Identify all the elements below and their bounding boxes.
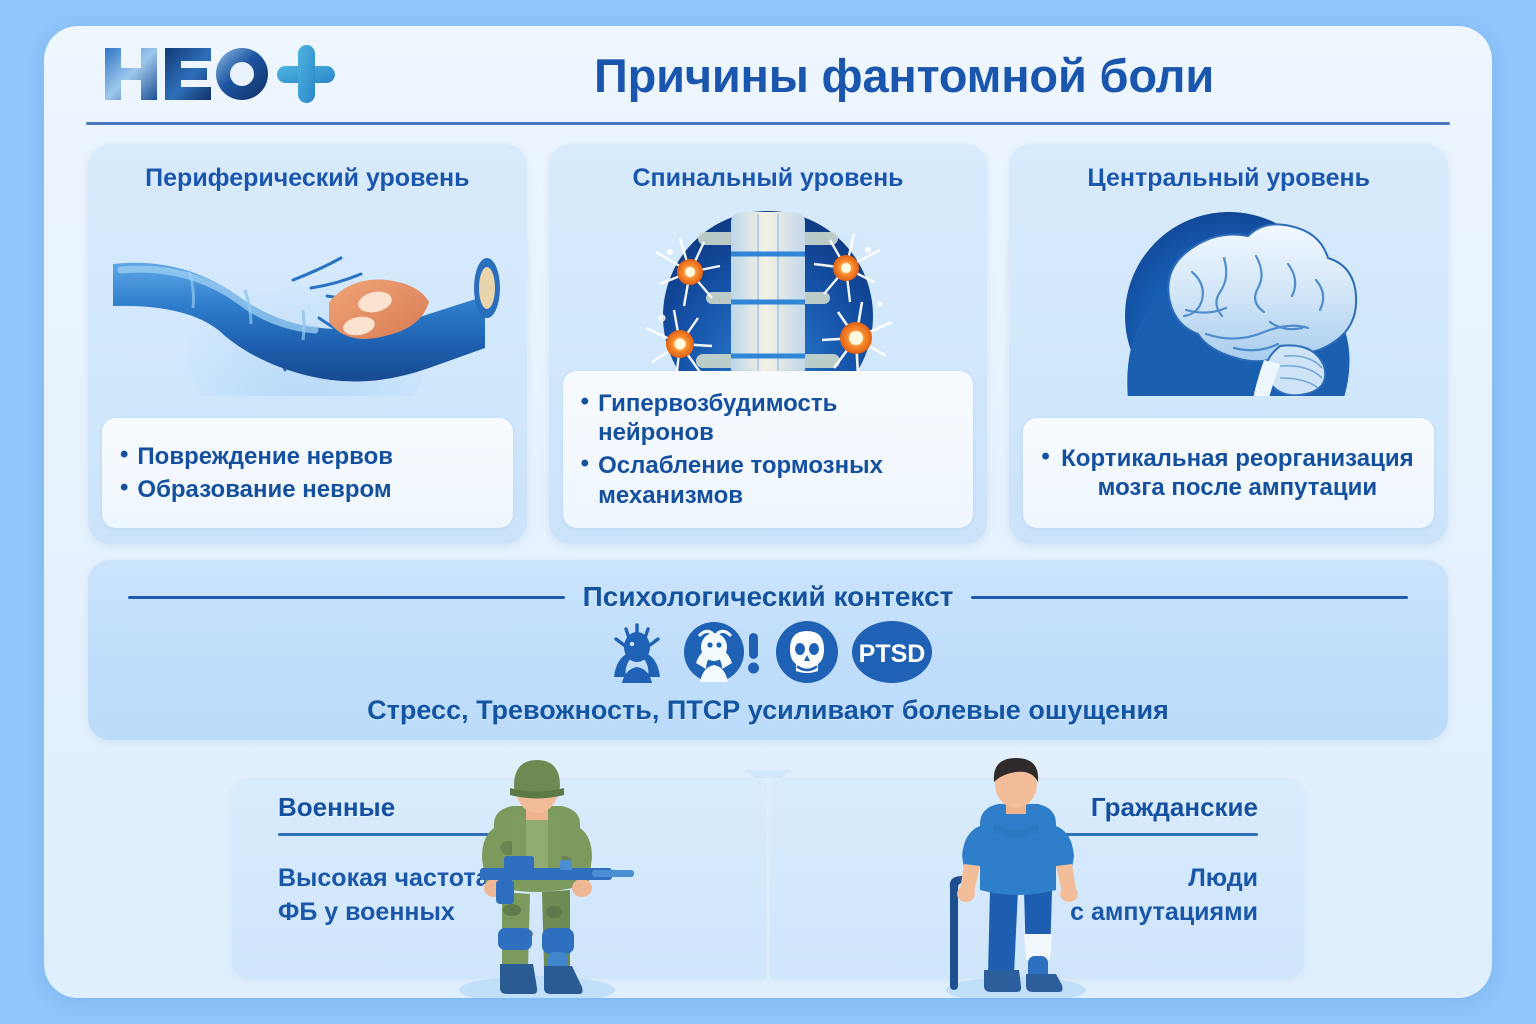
header-divider [86, 122, 1450, 125]
level-bullets-central: • Кортикальная реорганизация мозга после… [1023, 418, 1434, 528]
bullet-dot: • [581, 451, 589, 477]
bullet-text: Ослабление тормозных механизмов [598, 451, 955, 510]
level-card-central[interactable]: Центральный уровень [1009, 144, 1448, 544]
divider-left [128, 596, 565, 599]
compare-section: Военные Высокая частота ФБ у военных [232, 778, 1304, 978]
compare-card-civilian[interactable]: Гражданские Люди с ампутациями [770, 778, 1304, 978]
level-title-central: Центральный уровень [1009, 164, 1448, 193]
ptsd-label: PTSD [859, 640, 926, 668]
bullet-dot: • [1041, 444, 1049, 470]
bullet-text: Образование невром [137, 475, 391, 504]
level-bullets-peripheral: • Повреждение нервов • Образование невро… [102, 418, 513, 528]
stressed-person-icon [604, 621, 670, 688]
page-title: Причины фантомной боли [374, 40, 1434, 110]
bullet-dot: • [581, 389, 589, 415]
list-item: • Повреждение нервов [120, 442, 495, 471]
psychological-context-section: Психологический контекст [88, 560, 1448, 740]
anxious-person-exclamation-icon [684, 621, 762, 688]
level-card-spinal[interactable]: Спинальный уровень [549, 144, 988, 544]
skull-icon [776, 621, 838, 688]
infographic-canvas: Причины фантомной боли Периферический ур… [0, 0, 1536, 1024]
psychological-context-title: Психологический контекст [583, 581, 954, 613]
bullet-text: Кортикальная реорганизация мозга после а… [1059, 444, 1416, 503]
ptsd-badge-icon: PTSD [852, 621, 932, 688]
compare-card-military[interactable]: Военные Высокая частота ФБ у военных [232, 778, 766, 978]
bullet-text: Повреждение нервов [137, 442, 393, 471]
psychological-icons-row: PTSD [88, 622, 1448, 686]
soldier-with-rifle-and-prosthetic-leg-illustration [432, 752, 642, 998]
main-panel: Причины фантомной боли Периферический ур… [44, 26, 1492, 998]
damaged-nerve-with-neuroma-illustration [88, 206, 527, 396]
bullet-dot: • [120, 475, 128, 501]
list-item: • Кортикальная реорганизация мозга после… [1041, 444, 1416, 503]
level-bullets-spinal: • Гипервозбудимость нейронов • Ослаблени… [563, 371, 974, 528]
list-item: • Ослабление тормозных механизмов [581, 451, 956, 510]
bullet-text: Гипервозбудимость нейронов [598, 389, 955, 448]
psychological-context-caption: Стресс, Тревожность, ПТСР усиливают боле… [88, 695, 1448, 726]
psychological-context-header: Психологический контекст [88, 580, 1448, 614]
levels-row: Периферический уровень [88, 144, 1448, 544]
divider-right [971, 596, 1408, 599]
brain-in-head-silhouette-illustration [1009, 206, 1448, 396]
level-title-spinal: Спинальный уровень [549, 164, 988, 193]
level-title-peripheral: Периферический уровень [88, 164, 527, 193]
spinal-cord-hyperexcitable-neurons-illustration [549, 206, 988, 396]
level-card-peripheral[interactable]: Периферический уровень [88, 144, 527, 544]
list-item: • Образование невром [120, 475, 495, 504]
civilian-man-with-cane-and-prosthetic-leg-illustration [924, 752, 1104, 998]
neo-plus-logo [99, 42, 349, 106]
header: Причины фантомной боли [44, 26, 1492, 122]
list-item: • Гипервозбудимость нейронов [581, 389, 956, 448]
bullet-dot: • [120, 442, 128, 468]
